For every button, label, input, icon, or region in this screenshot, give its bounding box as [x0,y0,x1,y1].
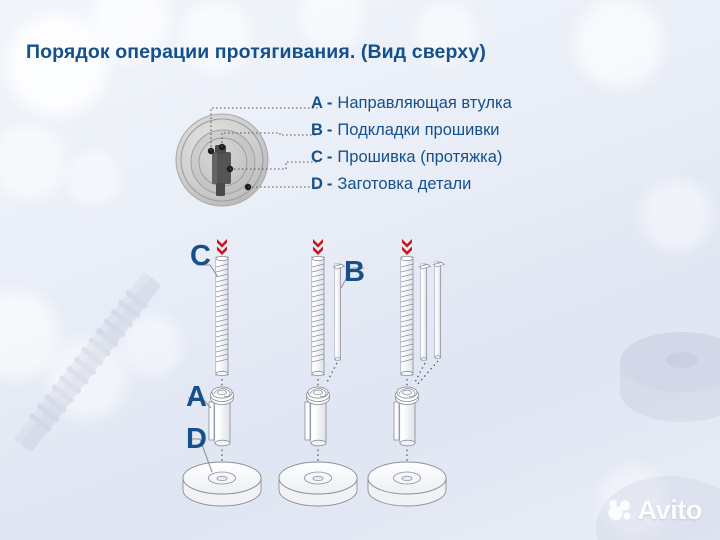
legend-dash-b: - [327,121,333,140]
broach-tool-col3 [401,256,413,375]
legend-text-c: Прошивка (протяжка) [337,148,502,167]
legend-item-d: D - Заготовка детали [311,175,512,202]
legend-key-b: B [311,121,323,140]
top-view-diagram [168,92,318,232]
page-title: Порядок операции протягивания. (Вид свер… [26,41,486,64]
broach-tool-col2 [312,256,324,375]
assembly-column-3 [368,239,446,506]
avito-dots-logo-icon [607,499,633,523]
label-c: C [190,242,211,271]
shim-plate-col2 [334,264,345,360]
workpiece-disc-col1 [183,462,261,506]
legend-dash-a: - [327,94,333,113]
legend-item-b: B - Подкладки прошивки [311,121,512,148]
workpiece-disc-col2 [279,462,357,506]
legend-key-d: D [311,175,323,194]
guide-bushing-col3 [394,387,419,446]
avito-wordmark: Avito [638,497,703,524]
guide-bushing-col2 [305,387,330,446]
background-disc-photo [604,300,720,450]
workpiece-disc-col3 [368,462,446,506]
background-broach-photo [0,252,204,482]
legend-text-a: Направляющая втулка [337,94,511,113]
legend: A - Направляющая втулка B - Подкладки пр… [311,94,512,202]
slide-canvas: Порядок операции протягивания. (Вид свер… [0,0,720,540]
feed-arrow-col2 [313,239,323,255]
legend-key-a: A [311,94,323,113]
label-b: B [344,258,365,287]
legend-key-c: C [311,148,323,167]
label-a: A [186,383,207,412]
legend-text-d: Заготовка детали [337,175,471,194]
guide-bushing-col1 [209,387,234,446]
feed-arrow-col3 [402,239,412,255]
assembly-column-1 [183,239,261,506]
feed-arrow-col1 [217,239,227,255]
legend-dash-c: - [327,148,333,167]
shim-plate-col3-b [434,262,445,358]
shim-plate-col3-a [420,264,431,360]
legend-item-c: C - Прошивка (протяжка) [311,148,512,175]
label-d: D [186,425,207,454]
legend-text-b: Подкладки прошивки [337,121,499,140]
exploded-assembly-diagram [180,232,470,522]
broach-tool-col1 [216,256,228,375]
legend-dash-d: - [327,175,333,194]
avito-watermark: Avito [607,497,703,524]
legend-item-a: A - Направляющая втулка [311,94,512,121]
